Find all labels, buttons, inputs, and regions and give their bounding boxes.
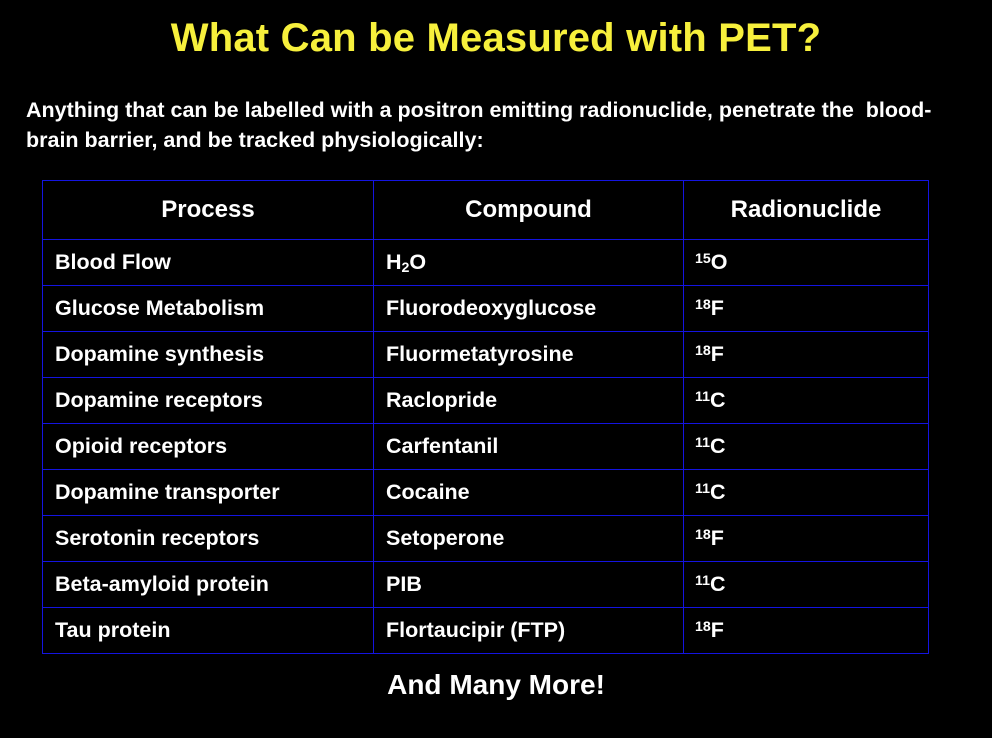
compound-base: Carfentanil <box>386 434 498 458</box>
cell-process: Serotonin receptors <box>43 516 374 562</box>
nuclide-mass-number: 18 <box>695 343 711 359</box>
compound-tail: O <box>409 250 426 274</box>
cell-radionuclide: 11C <box>684 562 929 608</box>
table-row: Tau protein Flortaucipir (FTP) 18F <box>43 608 929 654</box>
cell-compound: Carfentanil <box>374 424 684 470</box>
cell-radionuclide: 15O <box>684 240 929 286</box>
cell-radionuclide: 18F <box>684 516 929 562</box>
cell-compound: Fluormetatyrosine <box>374 332 684 378</box>
compound-base: Flortaucipir (FTP) <box>386 618 565 642</box>
compound-base: Raclopride <box>386 388 497 412</box>
table-header-row: Process Compound Radionuclide <box>43 181 929 240</box>
column-header-radionuclide: Radionuclide <box>684 181 929 240</box>
compound-base: Fluormetatyrosine <box>386 342 574 366</box>
nuclide-symbol: O <box>711 250 728 274</box>
page-title: What Can be Measured with PET? <box>0 14 992 62</box>
nuclide-mass-number: 11 <box>695 389 710 405</box>
nuclide-mass-number: 18 <box>695 619 711 635</box>
table-row: Dopamine transporter Cocaine 11C <box>43 470 929 516</box>
cell-radionuclide: 18F <box>684 332 929 378</box>
pet-tracer-table: Process Compound Radionuclide Blood Flow… <box>42 180 929 654</box>
cell-process: Dopamine receptors <box>43 378 374 424</box>
nuclide-mass-number: 11 <box>695 435 710 451</box>
nuclide-mass-number: 18 <box>695 527 711 543</box>
cell-radionuclide: 18F <box>684 608 929 654</box>
nuclide-symbol: C <box>710 480 726 504</box>
nuclide-mass-number: 15 <box>695 251 711 267</box>
nuclide-mass-number: 11 <box>695 573 710 589</box>
table-row: Serotonin receptors Setoperone 18F <box>43 516 929 562</box>
nuclide-symbol: F <box>711 618 724 642</box>
compound-base: PIB <box>386 572 422 596</box>
table-row: Dopamine synthesis Fluormetatyrosine 18F <box>43 332 929 378</box>
compound-base: H <box>386 250 402 274</box>
compound-base: Cocaine <box>386 480 470 504</box>
nuclide-symbol: F <box>711 526 724 550</box>
cell-process: Blood Flow <box>43 240 374 286</box>
cell-radionuclide: 18F <box>684 286 929 332</box>
table-body: Blood Flow H2O 15O Glucose Metabolism Fl… <box>43 240 929 654</box>
nuclide-symbol: C <box>710 434 726 458</box>
cell-radionuclide: 11C <box>684 424 929 470</box>
cell-radionuclide: 11C <box>684 470 929 516</box>
cell-process: Opioid receptors <box>43 424 374 470</box>
table-row: Glucose Metabolism Fluorodeoxyglucose 18… <box>43 286 929 332</box>
compound-base: Fluorodeoxyglucose <box>386 296 596 320</box>
cell-process: Beta-amyloid protein <box>43 562 374 608</box>
footer-note: And Many More! <box>0 668 992 702</box>
nuclide-symbol: F <box>711 296 724 320</box>
table-row: Opioid receptors Carfentanil 11C <box>43 424 929 470</box>
table-row: Blood Flow H2O 15O <box>43 240 929 286</box>
cell-compound: Raclopride <box>374 378 684 424</box>
cell-process: Tau protein <box>43 608 374 654</box>
slide-canvas: What Can be Measured with PET? Anything … <box>0 0 992 738</box>
table-row: Beta-amyloid protein PIB 11C <box>43 562 929 608</box>
cell-compound: H2O <box>374 240 684 286</box>
cell-compound: Setoperone <box>374 516 684 562</box>
table-header: Process Compound Radionuclide <box>43 181 929 240</box>
cell-process: Dopamine transporter <box>43 470 374 516</box>
cell-compound: Fluorodeoxyglucose <box>374 286 684 332</box>
nuclide-symbol: C <box>710 572 726 596</box>
column-header-compound: Compound <box>374 181 684 240</box>
column-header-process: Process <box>43 181 374 240</box>
cell-radionuclide: 11C <box>684 378 929 424</box>
cell-compound: PIB <box>374 562 684 608</box>
cell-process: Dopamine synthesis <box>43 332 374 378</box>
nuclide-mass-number: 11 <box>695 481 710 497</box>
cell-compound: Cocaine <box>374 470 684 516</box>
nuclide-symbol: F <box>711 342 724 366</box>
nuclide-symbol: C <box>710 388 726 412</box>
compound-base: Setoperone <box>386 526 504 550</box>
cell-compound: Flortaucipir (FTP) <box>374 608 684 654</box>
cell-process: Glucose Metabolism <box>43 286 374 332</box>
table-row: Dopamine receptors Raclopride 11C <box>43 378 929 424</box>
slide-subtitle: Anything that can be labelled with a pos… <box>26 95 966 155</box>
nuclide-mass-number: 18 <box>695 297 711 313</box>
